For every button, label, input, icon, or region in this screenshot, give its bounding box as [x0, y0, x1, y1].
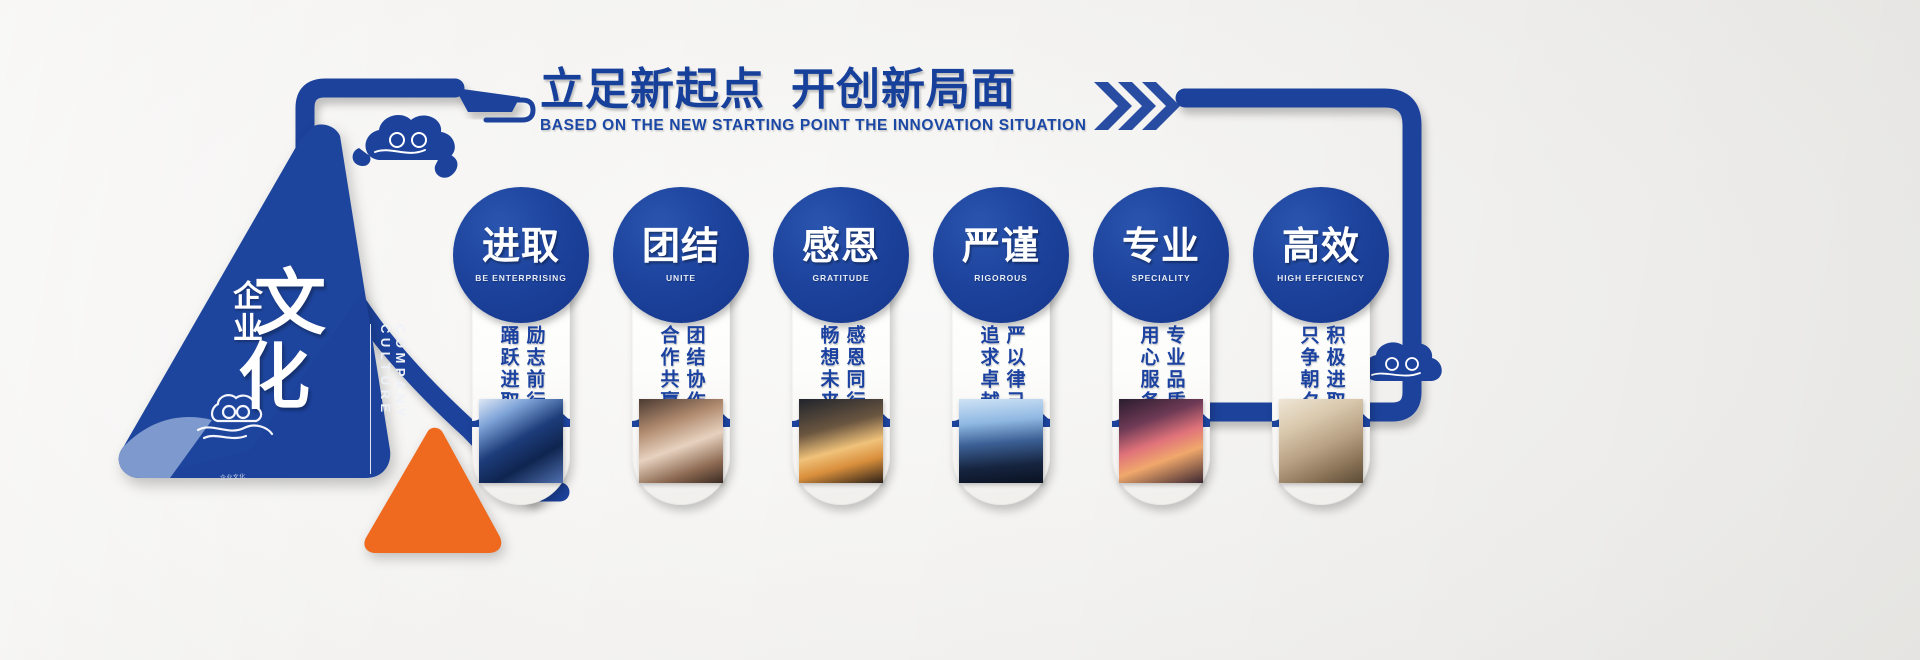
- card-circle-badge[interactable]: 进取 BE ENTERPRISING: [453, 187, 589, 323]
- card-circle-badge[interactable]: 感恩 GRATITUDE: [773, 187, 909, 323]
- card-title-cn: 严谨: [962, 228, 1040, 266]
- card-photo: [639, 399, 723, 483]
- card-title-cn: 进取: [482, 228, 560, 266]
- card-circle-badge[interactable]: 严谨 RIGOROUS: [933, 187, 1069, 323]
- card-title-en: UNITE: [666, 273, 696, 283]
- card-photo: [1279, 399, 1363, 483]
- value-cards-row: 进取 BE ENTERPRISING 踊跃进取 励志前行 团结 UNITE 合作…: [0, 0, 1920, 660]
- value-card-jinqu[interactable]: 进取 BE ENTERPRISING 踊跃进取 励志前行: [472, 195, 570, 505]
- card-title-cn: 团结: [642, 228, 720, 266]
- value-card-yanjin[interactable]: 严谨 RIGOROUS 追求卓越 严以律己: [952, 195, 1050, 505]
- card-title-cn: 专业: [1122, 228, 1200, 266]
- value-card-tuanjie[interactable]: 团结 UNITE 合作共赢 团结协作: [632, 195, 730, 505]
- value-card-zhuanye[interactable]: 专业 SPECIALITY 用心服务 专业品质: [1112, 195, 1210, 505]
- card-title-en: SPECIALITY: [1131, 273, 1190, 283]
- card-title-cn: 高效: [1282, 228, 1360, 266]
- value-card-gaoxiao[interactable]: 高效 HIGH EFFICIENCY 只争朝夕 积极进取: [1272, 195, 1370, 505]
- card-title-en: RIGOROUS: [974, 273, 1027, 283]
- card-photo: [959, 399, 1043, 483]
- card-circle-badge[interactable]: 专业 SPECIALITY: [1093, 187, 1229, 323]
- card-photo: [799, 399, 883, 483]
- card-title-en: HIGH EFFICIENCY: [1277, 273, 1365, 283]
- card-title-cn: 感恩: [802, 228, 880, 266]
- card-circle-badge[interactable]: 高效 HIGH EFFICIENCY: [1253, 187, 1389, 323]
- card-photo: [479, 399, 563, 483]
- value-card-ganen[interactable]: 感恩 GRATITUDE 畅想未来 感恩同行: [792, 195, 890, 505]
- card-circle-badge[interactable]: 团结 UNITE: [613, 187, 749, 323]
- card-title-en: GRATITUDE: [812, 273, 869, 283]
- card-photo: [1119, 399, 1203, 483]
- card-title-en: BE ENTERPRISING: [475, 273, 566, 283]
